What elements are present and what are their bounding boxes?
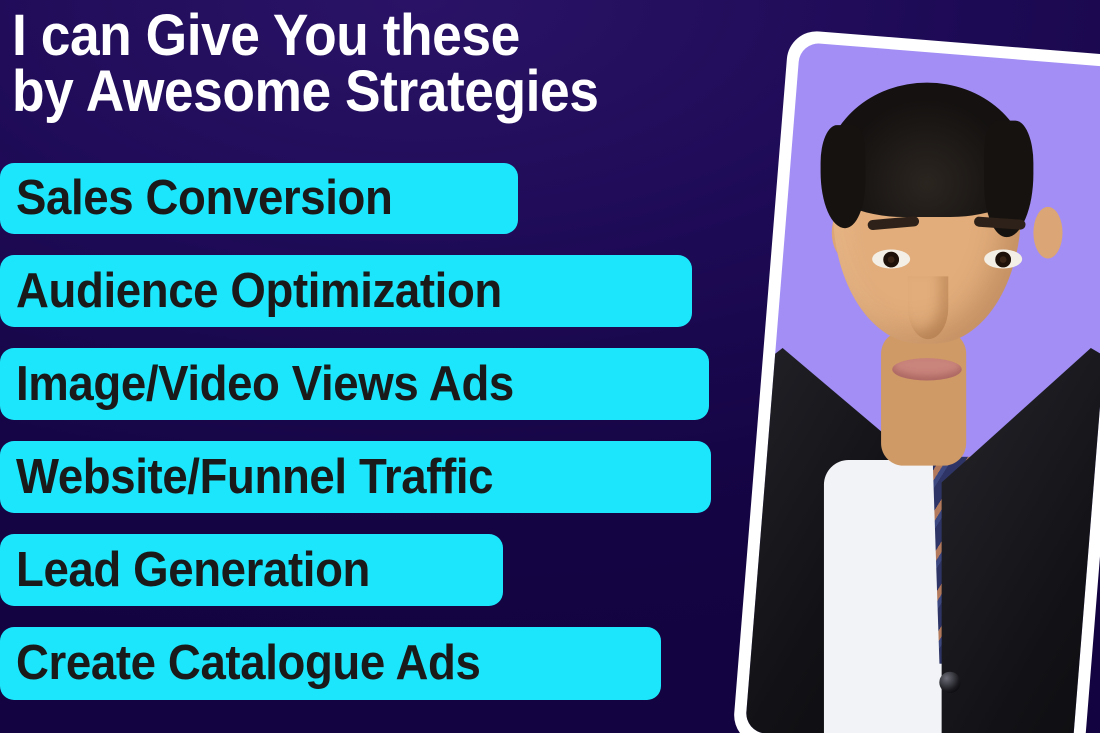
mouth <box>892 358 961 380</box>
list-item: Create Catalogue Ads <box>0 627 661 700</box>
portrait-illustration <box>758 42 1100 733</box>
eye-right <box>984 250 1022 269</box>
service-label: Sales Conversion <box>16 174 392 223</box>
list-item: Audience Optimization <box>0 255 692 327</box>
headline-line-1: I can Give You these <box>12 8 739 64</box>
service-label: Create Catalogue Ads <box>16 639 480 688</box>
headline-line-2: by Awesome Strategies <box>12 64 739 120</box>
list-item: Image/Video Views Ads <box>0 348 709 420</box>
promo-poster: I can Give You these by Awesome Strategi… <box>0 0 1100 733</box>
service-label: Image/Video Views Ads <box>16 360 514 409</box>
ear-right <box>1034 207 1063 259</box>
eye-left <box>872 250 910 269</box>
nose <box>908 277 948 340</box>
service-label: Website/Funnel Traffic <box>16 453 493 502</box>
list-item: Sales Conversion <box>0 163 518 234</box>
neck <box>881 331 966 465</box>
photo-card <box>732 29 1100 733</box>
page-title: I can Give You these by Awesome Strategi… <box>12 8 739 121</box>
hair <box>825 83 1029 217</box>
list-item: Website/Funnel Traffic <box>0 441 711 513</box>
service-label: Audience Optimization <box>16 267 502 316</box>
service-label: Lead Generation <box>16 546 370 595</box>
jacket-button <box>939 672 960 693</box>
portrait-photo <box>745 42 1100 733</box>
list-item: Lead Generation <box>0 534 503 606</box>
